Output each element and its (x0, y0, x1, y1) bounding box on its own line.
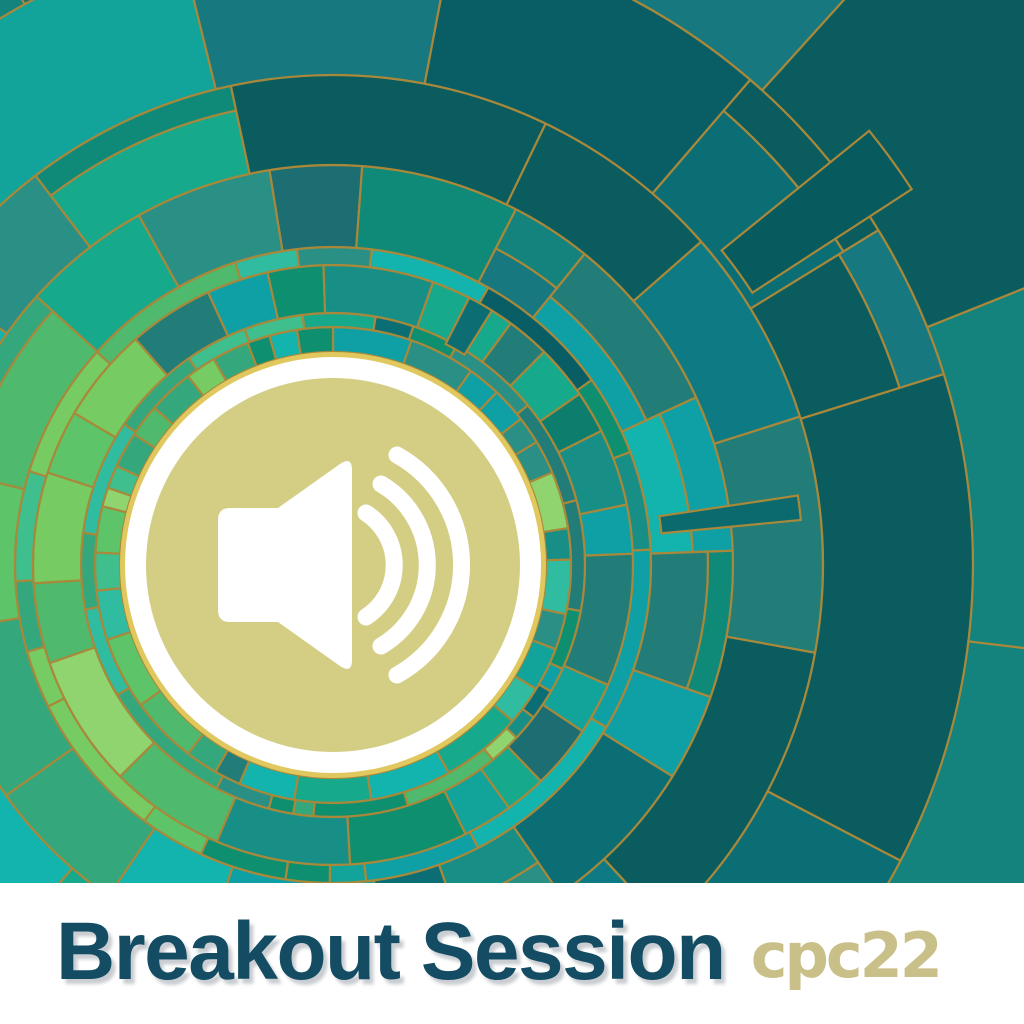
brand-logo: cpc22 (751, 925, 940, 987)
mosaic-sector (270, 165, 363, 251)
mosaic-sector (95, 552, 121, 590)
sunburst-artwork (0, 0, 1024, 883)
mosaic-sector (580, 505, 633, 556)
mosaic-sector (294, 775, 371, 803)
mosaic-sector (267, 265, 325, 319)
mosaic-sector (297, 247, 372, 267)
title-row: Breakout Session cpc22 (0, 911, 940, 993)
sunburst-svg (0, 0, 1024, 883)
mosaic-sector (543, 528, 571, 560)
page-title: Breakout Session (56, 911, 725, 993)
mosaic-sector (330, 863, 366, 883)
footer-bar: Breakout Session cpc22 (0, 883, 1024, 1024)
mosaic-sector-group (0, 0, 1024, 883)
mosaic-sector (297, 327, 333, 354)
mosaic-sector (180, 0, 453, 89)
podcast-cover-art: Breakout Session cpc22 (0, 0, 1024, 1024)
center-medallion (120, 352, 546, 778)
